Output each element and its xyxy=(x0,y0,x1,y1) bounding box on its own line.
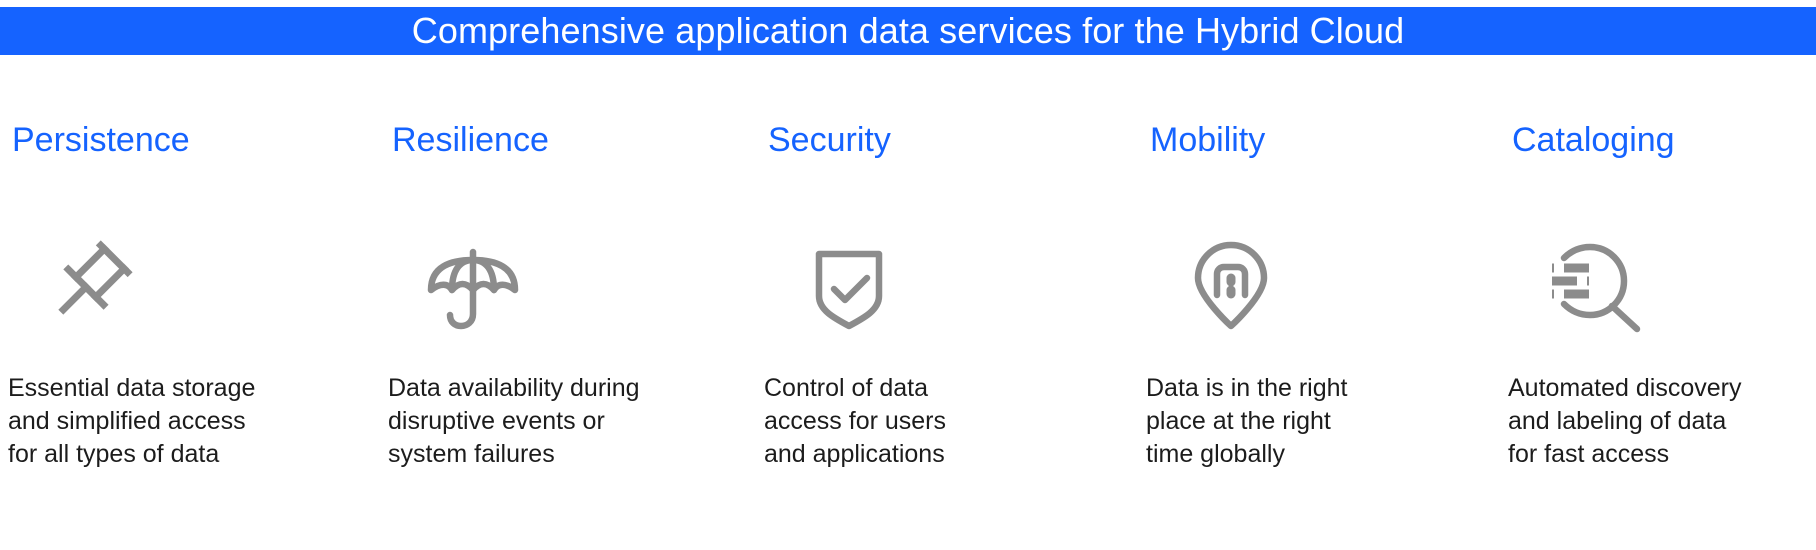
location-pin-building-icon xyxy=(1176,228,1286,338)
column-heading-persistence: Persistence xyxy=(12,120,190,160)
body-line: Control of data xyxy=(764,372,1104,405)
body-line: time globally xyxy=(1146,438,1486,471)
body-line: and labeling of data xyxy=(1508,405,1816,438)
body-line: system failures xyxy=(388,438,728,471)
feature-column-persistence: Persistence Essential data storage and s… xyxy=(8,120,368,550)
body-line: Data is in the right xyxy=(1146,372,1486,405)
body-line: place at the right xyxy=(1146,405,1486,438)
column-body-resilience: Data availability during disruptive even… xyxy=(388,372,728,471)
body-line: for all types of data xyxy=(8,438,348,471)
column-heading-resilience: Resilience xyxy=(392,120,549,160)
feature-column-mobility: Mobility Data is in the right place at t… xyxy=(1146,120,1506,550)
body-line: Data availability during xyxy=(388,372,728,405)
header-banner: Comprehensive application data services … xyxy=(0,7,1816,55)
body-line: disruptive events or xyxy=(388,405,728,438)
body-line: and simplified access xyxy=(8,405,348,438)
magnifier-list-icon xyxy=(1538,228,1648,338)
shield-check-icon xyxy=(794,228,904,338)
column-heading-cataloging: Cataloging xyxy=(1512,120,1675,160)
column-heading-mobility: Mobility xyxy=(1150,120,1265,160)
pushpin-icon xyxy=(38,228,148,338)
body-line: for fast access xyxy=(1508,438,1816,471)
column-body-persistence: Essential data storage and simplified ac… xyxy=(8,372,348,471)
column-body-cataloging: Automated discovery and labeling of data… xyxy=(1508,372,1816,471)
page-title: Comprehensive application data services … xyxy=(412,13,1405,49)
feature-column-cataloging: Cataloging Automated discovery and label… xyxy=(1508,120,1816,550)
body-line: access for users xyxy=(764,405,1104,438)
feature-column-security: Security Control of data access for user… xyxy=(764,120,1124,550)
column-body-security: Control of data access for users and app… xyxy=(764,372,1104,471)
column-body-mobility: Data is in the right place at the right … xyxy=(1146,372,1486,471)
feature-column-resilience: Resilience Data availability during disr… xyxy=(388,120,748,550)
body-line: Automated discovery xyxy=(1508,372,1816,405)
body-line: and applications xyxy=(764,438,1104,471)
body-line: Essential data storage xyxy=(8,372,348,405)
umbrella-icon xyxy=(418,228,528,338)
feature-columns: Persistence Essential data storage and s… xyxy=(0,120,1816,550)
column-heading-security: Security xyxy=(768,120,891,160)
